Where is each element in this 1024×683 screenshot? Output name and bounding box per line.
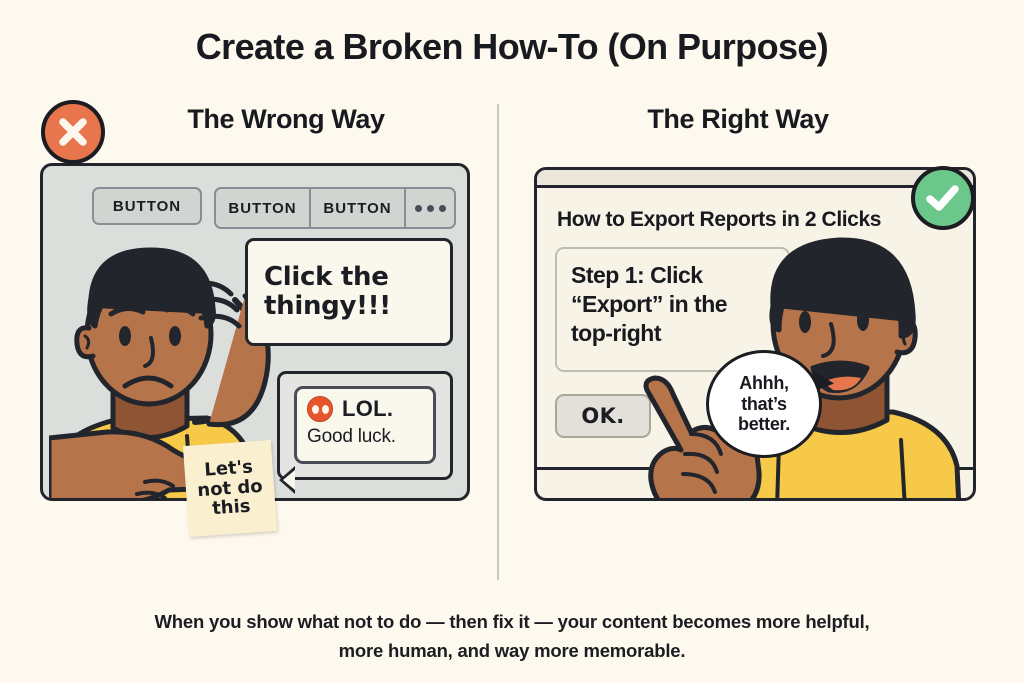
lol-heading: LOL. xyxy=(342,396,393,422)
toolbar-button-solo[interactable]: BUTTON xyxy=(92,187,202,225)
x-glyph xyxy=(56,115,90,149)
check-mark-icon xyxy=(911,166,975,230)
lol-dialog: LOL. Good luck. xyxy=(294,386,436,464)
orange-face-icon xyxy=(307,396,333,422)
bubble-line-1: Ahhh, xyxy=(739,373,789,394)
lol-body: Good luck. xyxy=(307,426,423,448)
right-way-speech-bubble: Ahhh, that’s better. xyxy=(706,350,822,458)
speech-bubble-tail xyxy=(279,466,295,494)
bubble-line-3: better. xyxy=(738,414,790,435)
infographic-stage: Create a Broken How-To (On Purpose) The … xyxy=(0,0,1024,683)
right-column-heading: The Right Way xyxy=(548,104,928,135)
caption: When you show what not to do — then fix … xyxy=(0,608,1024,665)
speech-line-2: thingy!!! xyxy=(264,292,442,321)
ellipsis-icon[interactable] xyxy=(406,189,454,227)
bubble-line-2: that’s xyxy=(741,394,787,415)
column-divider xyxy=(497,104,499,580)
sticky-note: Let's not do this xyxy=(183,440,277,537)
caption-line-2: more human, and way more memorable. xyxy=(0,637,1024,666)
dot xyxy=(427,205,434,212)
left-column-heading: The Wrong Way xyxy=(96,104,476,135)
eye xyxy=(312,405,319,414)
window-titlebar xyxy=(537,170,973,188)
lol-heading-row: LOL. xyxy=(307,396,423,422)
caption-line-1: When you show what not to do — then fix … xyxy=(0,608,1024,637)
dot xyxy=(439,205,446,212)
x-mark-icon xyxy=(41,100,105,164)
wrong-way-speech-bubble: Click the thingy!!! xyxy=(245,238,453,346)
check-glyph xyxy=(924,181,962,215)
dot xyxy=(415,205,422,212)
eye xyxy=(322,405,329,414)
page-title: Create a Broken How-To (On Purpose) xyxy=(0,26,1024,68)
speech-line-1: Click the xyxy=(264,263,442,292)
